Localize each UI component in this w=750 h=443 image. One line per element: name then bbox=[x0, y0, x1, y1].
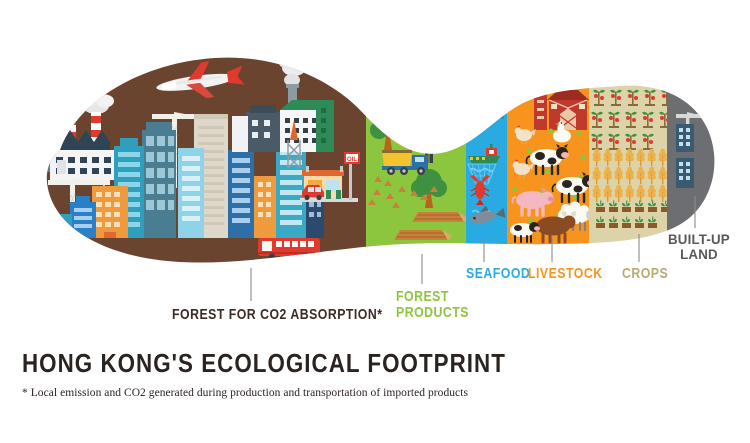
title-block: HONG KONG'S ECOLOGICAL FOOTPRINT * Local… bbox=[22, 348, 622, 399]
page-title: HONG KONG'S ECOLOGICAL FOOTPRINT bbox=[22, 348, 538, 379]
band-builtup-land bbox=[667, 0, 750, 443]
label-builtup-land: BUILT-UP LAND bbox=[668, 232, 730, 262]
svg-text:OIL: OIL bbox=[347, 157, 357, 163]
footnote: * Local emission and CO2 generated durin… bbox=[22, 387, 622, 399]
infographic-canvas: OIL bbox=[0, 0, 750, 443]
label-forest-products: FOREST PRODUCTS bbox=[396, 289, 469, 321]
label-seafood: SEAFOOD bbox=[466, 266, 530, 282]
label-forest-co2: FOREST FOR CO2 ABSORPTION* bbox=[172, 307, 383, 323]
label-crops: CROPS bbox=[622, 266, 668, 282]
tree-icon bbox=[415, 118, 449, 152]
label-livestock: LIVESTOCK bbox=[528, 266, 603, 282]
